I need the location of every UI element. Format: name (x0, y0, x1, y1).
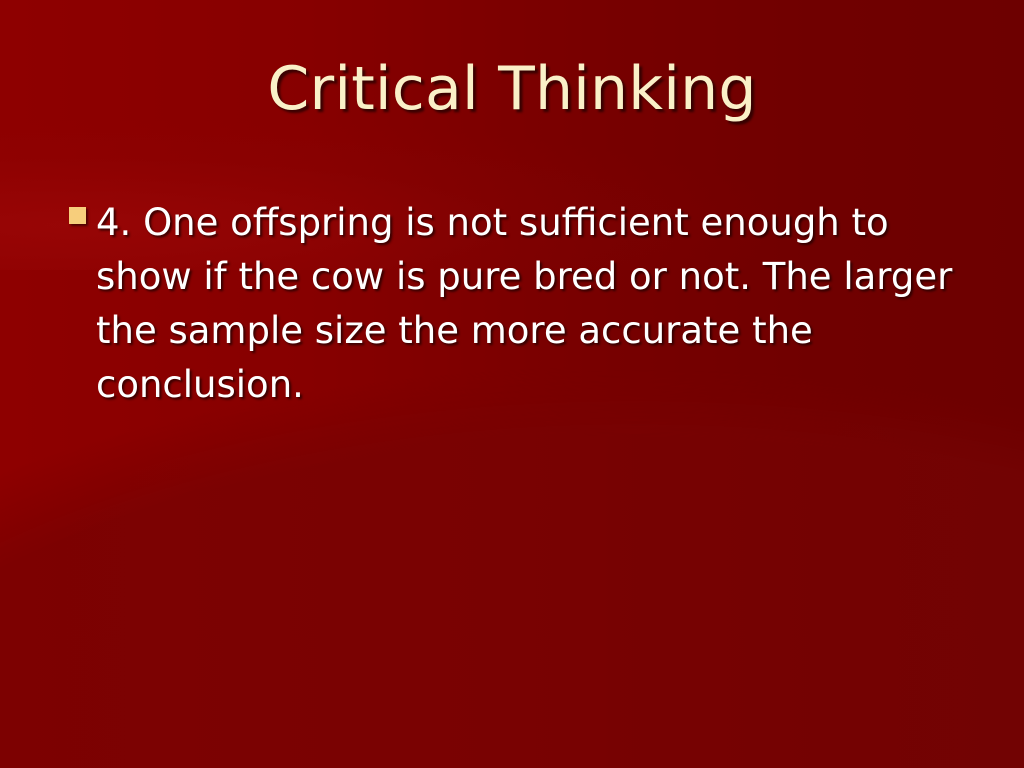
slide-canvas: Critical Thinking 4. One offspring is no… (0, 0, 1024, 768)
list-item: 4. One offspring is not sufficient enoug… (64, 196, 964, 412)
slide-title: Critical Thinking (0, 58, 1024, 121)
slide-body: 4. One offspring is not sufficient enoug… (64, 196, 964, 412)
bullet-text: 4. One offspring is not sufficient enoug… (96, 201, 952, 406)
square-bullet-icon (69, 207, 86, 224)
